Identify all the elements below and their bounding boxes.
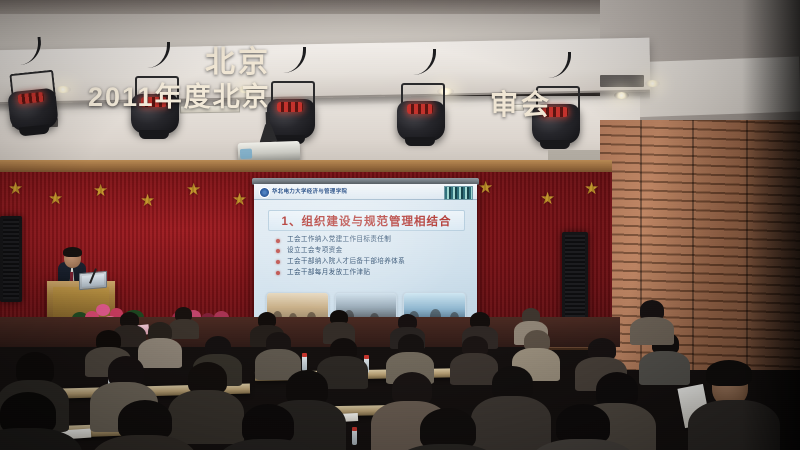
stage-light [393, 73, 449, 147]
bullet-text: 工会干部每月发放工作津贴 [287, 269, 370, 276]
bullet-dot-icon [276, 260, 280, 264]
slide-bullet-item: 工会干部每月发放工作津贴 [276, 269, 466, 276]
person-shoulders [450, 353, 498, 385]
bullet-dot-icon [276, 249, 280, 253]
slide-bullet-list: 工会工作纳入党建工作目标责任制 设立工会专项资金 工会干部纳入院人才后备干部培养… [276, 236, 466, 279]
projection-screen: 华北电力大学经济与管理学院 1、组织建设与规范管理相结合 工会工作纳入党建工作目… [254, 184, 477, 324]
bullet-text: 设立工会专项资金 [287, 247, 343, 254]
conference-hall-photo: ★ ★ ★ ★ ★ ★ ★ ★ ★ ★ ★ ★ ★ 北京 2011年度北京 审会… [0, 0, 800, 450]
ceiling-vent [600, 75, 644, 87]
bullet-text: 工会工作纳入党建工作目标责任制 [287, 236, 391, 243]
light-base [405, 137, 435, 146]
light-base [540, 140, 570, 149]
person-hair [596, 372, 638, 407]
stage-light [0, 59, 63, 138]
person-hair [118, 400, 172, 440]
ceiling-downlight [614, 92, 629, 99]
bottle-cap [364, 355, 369, 359]
light-lens [277, 102, 303, 112]
pa-speaker-left [0, 216, 22, 302]
banner-subheadline: 2011年度北京 [88, 75, 271, 114]
person-shoulders [630, 317, 674, 345]
person-shoulders [138, 338, 182, 368]
backdrop-star: ★ [584, 180, 599, 197]
backdrop-star: ★ [232, 191, 247, 208]
slide-title: 1、组织建设与规范管理相结合 [282, 213, 452, 229]
backdrop-star: ★ [93, 182, 108, 199]
presenter-hair [63, 247, 82, 257]
water-bottle [302, 356, 307, 371]
backdrop-star: ★ [540, 190, 555, 207]
pa-speaker-right [562, 232, 588, 328]
speaker-grill [565, 235, 585, 325]
slide-title-box: 1、组织建设与规范管理相结合 [268, 210, 465, 231]
person-hair [492, 366, 533, 400]
university-logo-icon [259, 187, 270, 198]
slide-bullet-item: 设立工会专项资金 [276, 247, 466, 254]
slide-org-name: 华北电力大学经济与管理学院 [272, 187, 347, 195]
bullet-dot-icon [276, 239, 280, 243]
bottle-cap [352, 427, 357, 431]
person-shoulders [471, 396, 551, 450]
banner-headline-right: 审会 [490, 83, 552, 123]
backdrop-star: ★ [140, 192, 155, 209]
light-base [139, 130, 169, 139]
backdrop-star: ★ [8, 180, 23, 197]
light-lens [407, 104, 433, 114]
person-hair [242, 404, 294, 444]
person-shoulders [169, 319, 199, 339]
slide-corner-graphic-icon [444, 186, 473, 200]
slide-bullet-item: 工会工作纳入党建工作目标责任制 [276, 236, 466, 243]
panel-seam [692, 120, 694, 370]
speaker-grill [3, 219, 19, 299]
backdrop-star: ★ [186, 181, 201, 198]
backdrop-star: ★ [478, 179, 493, 196]
bottle-cap [302, 353, 307, 357]
bullet-dot-icon [276, 271, 280, 275]
right-edge-shadow [742, 0, 800, 450]
person-hair [556, 404, 610, 444]
projector-arm [266, 112, 270, 126]
person-shoulders [639, 351, 690, 385]
light-base [19, 124, 50, 136]
person-shoulders [168, 390, 244, 444]
backdrop-star: ★ [48, 190, 63, 207]
water-bottle [352, 430, 357, 445]
slide-bullet-item: 工会干部纳入院人才后备干部培养体系 [276, 258, 466, 265]
bullet-text: 工会干部纳入院人才后备干部培养体系 [287, 258, 405, 265]
ceiling-downlight [645, 80, 660, 87]
projector-lens [240, 149, 252, 159]
